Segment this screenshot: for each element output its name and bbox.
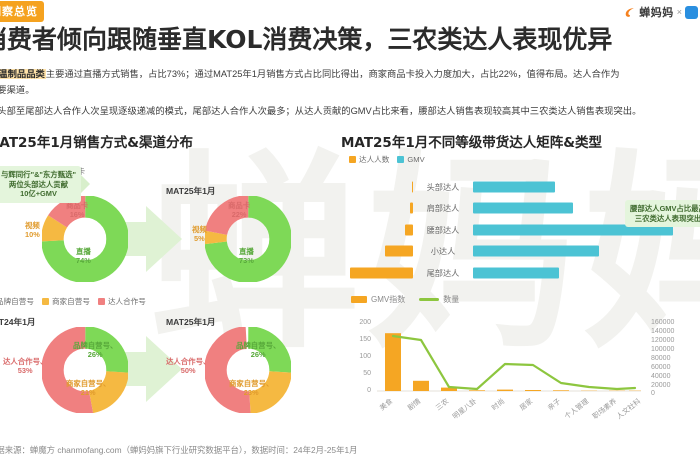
count-line [393, 336, 635, 389]
tornado-category: 小达人 [413, 245, 473, 257]
summary-line-1b: 主要渠道。 [0, 84, 700, 97]
svg-text:居家: 居家 [518, 396, 535, 412]
x-axis-labels: 美食 剧情 三农 明星八卦 时尚 居家 亲子 个人管理 职场素养 人文社科 [378, 396, 643, 420]
svg-text:人文社科: 人文社科 [615, 396, 643, 420]
brand-logo: 蝉妈妈 × [623, 4, 698, 20]
bar-count [405, 224, 413, 235]
right-axis-ticks: 160000 140000 120000 100000 80000 60000 … [651, 319, 674, 397]
tornado-right-cell [473, 241, 697, 262]
svg-text:职场素养: 职场素养 [591, 396, 619, 420]
donut-channel-curr-label-merchant: 商家自营号、23% [229, 380, 273, 397]
svg-text:剧情: 剧情 [406, 396, 423, 412]
bar-count [350, 267, 413, 278]
donut-sales-prev-label-video: 视频10% [25, 222, 40, 239]
period-label-prev-channel: MAT24年1月 [0, 316, 36, 328]
page-title: 消费者倾向跟随垂直KOL消费决策，三农类达人表现优异 [0, 20, 700, 56]
legend-label: 品牌自营号 [0, 296, 34, 307]
legend-combo-chart: GMV指数 数量 [351, 294, 459, 305]
legend-label: GMV指数 [371, 294, 405, 305]
bar-gmv [473, 267, 559, 278]
tornado-right-cell [473, 262, 697, 283]
svg-text:160000: 160000 [651, 319, 674, 326]
callout-top-creators: 与辉同行"&"东方甄选" 两位头部达人贡献 10亿+GMV [0, 166, 81, 203]
legend-item: 数量 [419, 294, 459, 305]
tornado-left-cell [341, 219, 413, 240]
tornado-category: 尾部达人 [413, 267, 473, 279]
creator-matrix-chart: 头部达人 肩部达人 腰部达人 小达人 尾部达人 [341, 176, 697, 284]
legend-swatch-icon [397, 156, 404, 163]
left-panel-title: MAT25年1月销售方式&渠道分布 [0, 131, 193, 151]
svg-text:50: 50 [363, 370, 371, 377]
legend-item: GMV [397, 155, 424, 164]
legend-line-swatch-icon [419, 298, 439, 301]
section-badge: 洞察总览 [0, 1, 44, 22]
legend-creator-matrix: 达人人数 GMV [349, 154, 425, 165]
callout-waist-creators: 腰部达人GMV占比最高 三农类达人表现突出 [625, 200, 700, 227]
tornado-row: 小达人 [341, 241, 697, 262]
left-axis-ticks: 200 150 100 50 0 [359, 319, 371, 394]
legend-label: 达人人数 [359, 154, 389, 165]
summary-line-1-rest: 主要通过直播方式销售，占比73%；通过MAT25年1月销售方式占比同比得出，商家… [46, 69, 620, 79]
donut-channel-curr [205, 327, 291, 413]
svg-text:亲子: 亲子 [546, 396, 563, 412]
svg-text:个人管理: 个人管理 [563, 396, 591, 420]
summary-highlight: 低温制品品类 [0, 69, 46, 79]
slide-page: 蝉妈妈 洞察总览 蝉妈妈 × 消费者倾向跟随垂直KOL消费决策，三农类达人表现优… [0, 0, 700, 470]
donut-sales-curr-label-card: 商品卡22% [228, 202, 250, 219]
tornado-left-cell [341, 241, 413, 262]
legend-swatch-icon [349, 156, 356, 163]
donut-channel-prev-label-merchant: 商家自营号、21% [66, 380, 110, 397]
donut-channel-curr-label-brand: 品牌自营号、26% [236, 342, 280, 359]
bar-gmv [473, 181, 555, 192]
legend-label: 商家自营号 [52, 296, 90, 307]
period-label-curr-channel: MAT25年1月 [166, 316, 216, 328]
tornado-row: 头部达人 [341, 176, 697, 197]
tornado-category: 头部达人 [413, 181, 473, 193]
summary-line-2: 从头部至尾部达人合作人次呈现逐级递减的模式，尾部达人合作人次最多；从达人贡献的G… [0, 105, 700, 118]
category-gmv-svg: 200 150 100 50 0 160000 140000 120000 10… [341, 312, 699, 440]
svg-text:100: 100 [359, 353, 371, 360]
donut-sales-curr-label-live: 直播73% [239, 248, 254, 265]
tornado-left-cell [341, 262, 413, 283]
period-label-curr-sales: MAT25年1月 [166, 185, 216, 197]
donut-sales-prev-label-live: 直播74% [76, 248, 91, 265]
category-gmv-chart: 200 150 100 50 0 160000 140000 120000 10… [341, 312, 699, 440]
donut-sales-curr-label-video: 视频5% [192, 226, 207, 243]
svg-text:时尚: 时尚 [490, 396, 507, 412]
svg-text:140000: 140000 [651, 328, 674, 335]
legend-label: 数量 [443, 294, 459, 305]
partner-logo-icon [685, 6, 698, 19]
legend-label: GMV [407, 155, 424, 164]
svg-text:40000: 40000 [651, 373, 671, 380]
tornado-category: 腰部达人 [413, 224, 473, 236]
tornado-category: 肩部达人 [413, 202, 473, 214]
bar-count [412, 181, 414, 192]
legend-item: GMV指数 [351, 294, 405, 305]
legend-swatch-icon [98, 298, 105, 305]
legend-item: 达人人数 [349, 154, 389, 165]
svg-text:150: 150 [359, 336, 371, 343]
bar-count [385, 246, 413, 257]
legend-item: 品牌自营号 [0, 296, 34, 307]
legend-swatch-icon [42, 298, 49, 305]
svg-text:100000: 100000 [651, 346, 674, 353]
bar-gmv [473, 246, 599, 257]
donut-channel-prev-label-creator: 达人合作号、53% [3, 358, 47, 375]
svg-text:0: 0 [651, 390, 655, 397]
chanmama-logo-icon [623, 6, 636, 19]
legend-item: 达人合作号 [98, 296, 146, 307]
summary-line-1: 低温制品品类主要通过直播方式销售，占比73%；通过MAT25年1月销售方式占比同… [0, 68, 700, 81]
svg-text:0: 0 [367, 387, 371, 394]
legend-item: 商家自营号 [42, 296, 90, 307]
svg-text:三农: 三农 [434, 396, 451, 412]
svg-text:明星八卦: 明星八卦 [451, 396, 479, 420]
legend-channel: 品牌自营号 商家自营号 达人合作号 [0, 296, 146, 307]
tornado-right-cell [473, 176, 697, 197]
legend-bar-swatch-icon [351, 296, 367, 303]
donut-channel-curr-label-creator: 达人合作号、50% [166, 358, 210, 375]
svg-text:80000: 80000 [651, 355, 671, 362]
gmv-bars [385, 333, 641, 391]
legend-label: 达人合作号 [108, 296, 146, 307]
svg-text:200: 200 [359, 319, 371, 326]
donut-channel-prev-label-brand: 品牌自营号、26% [73, 342, 117, 359]
tornado-left-cell [341, 176, 413, 197]
right-panel-title: MAT25年1月不同等级带货达人矩阵&类型 [341, 131, 602, 151]
brand-name: 蝉妈妈 [639, 4, 674, 20]
svg-text:20000: 20000 [651, 382, 671, 389]
bar-gmv [473, 203, 573, 214]
bar-count [410, 203, 413, 214]
tornado-row: 尾部达人 [341, 262, 697, 283]
svg-text:60000: 60000 [651, 364, 671, 371]
svg-text:120000: 120000 [651, 337, 674, 344]
footer-source: 数据来源：蝉魔方 chanmofang.com（蝉妈妈旗下行业研究数据平台），数… [0, 444, 357, 456]
donut-sales-prev-label-card: 商品卡16% [66, 202, 88, 219]
donut-channel-prev [42, 327, 128, 413]
tornado-left-cell [341, 198, 413, 219]
brand-separator: × [677, 7, 682, 17]
svg-text:美食: 美食 [378, 396, 395, 412]
